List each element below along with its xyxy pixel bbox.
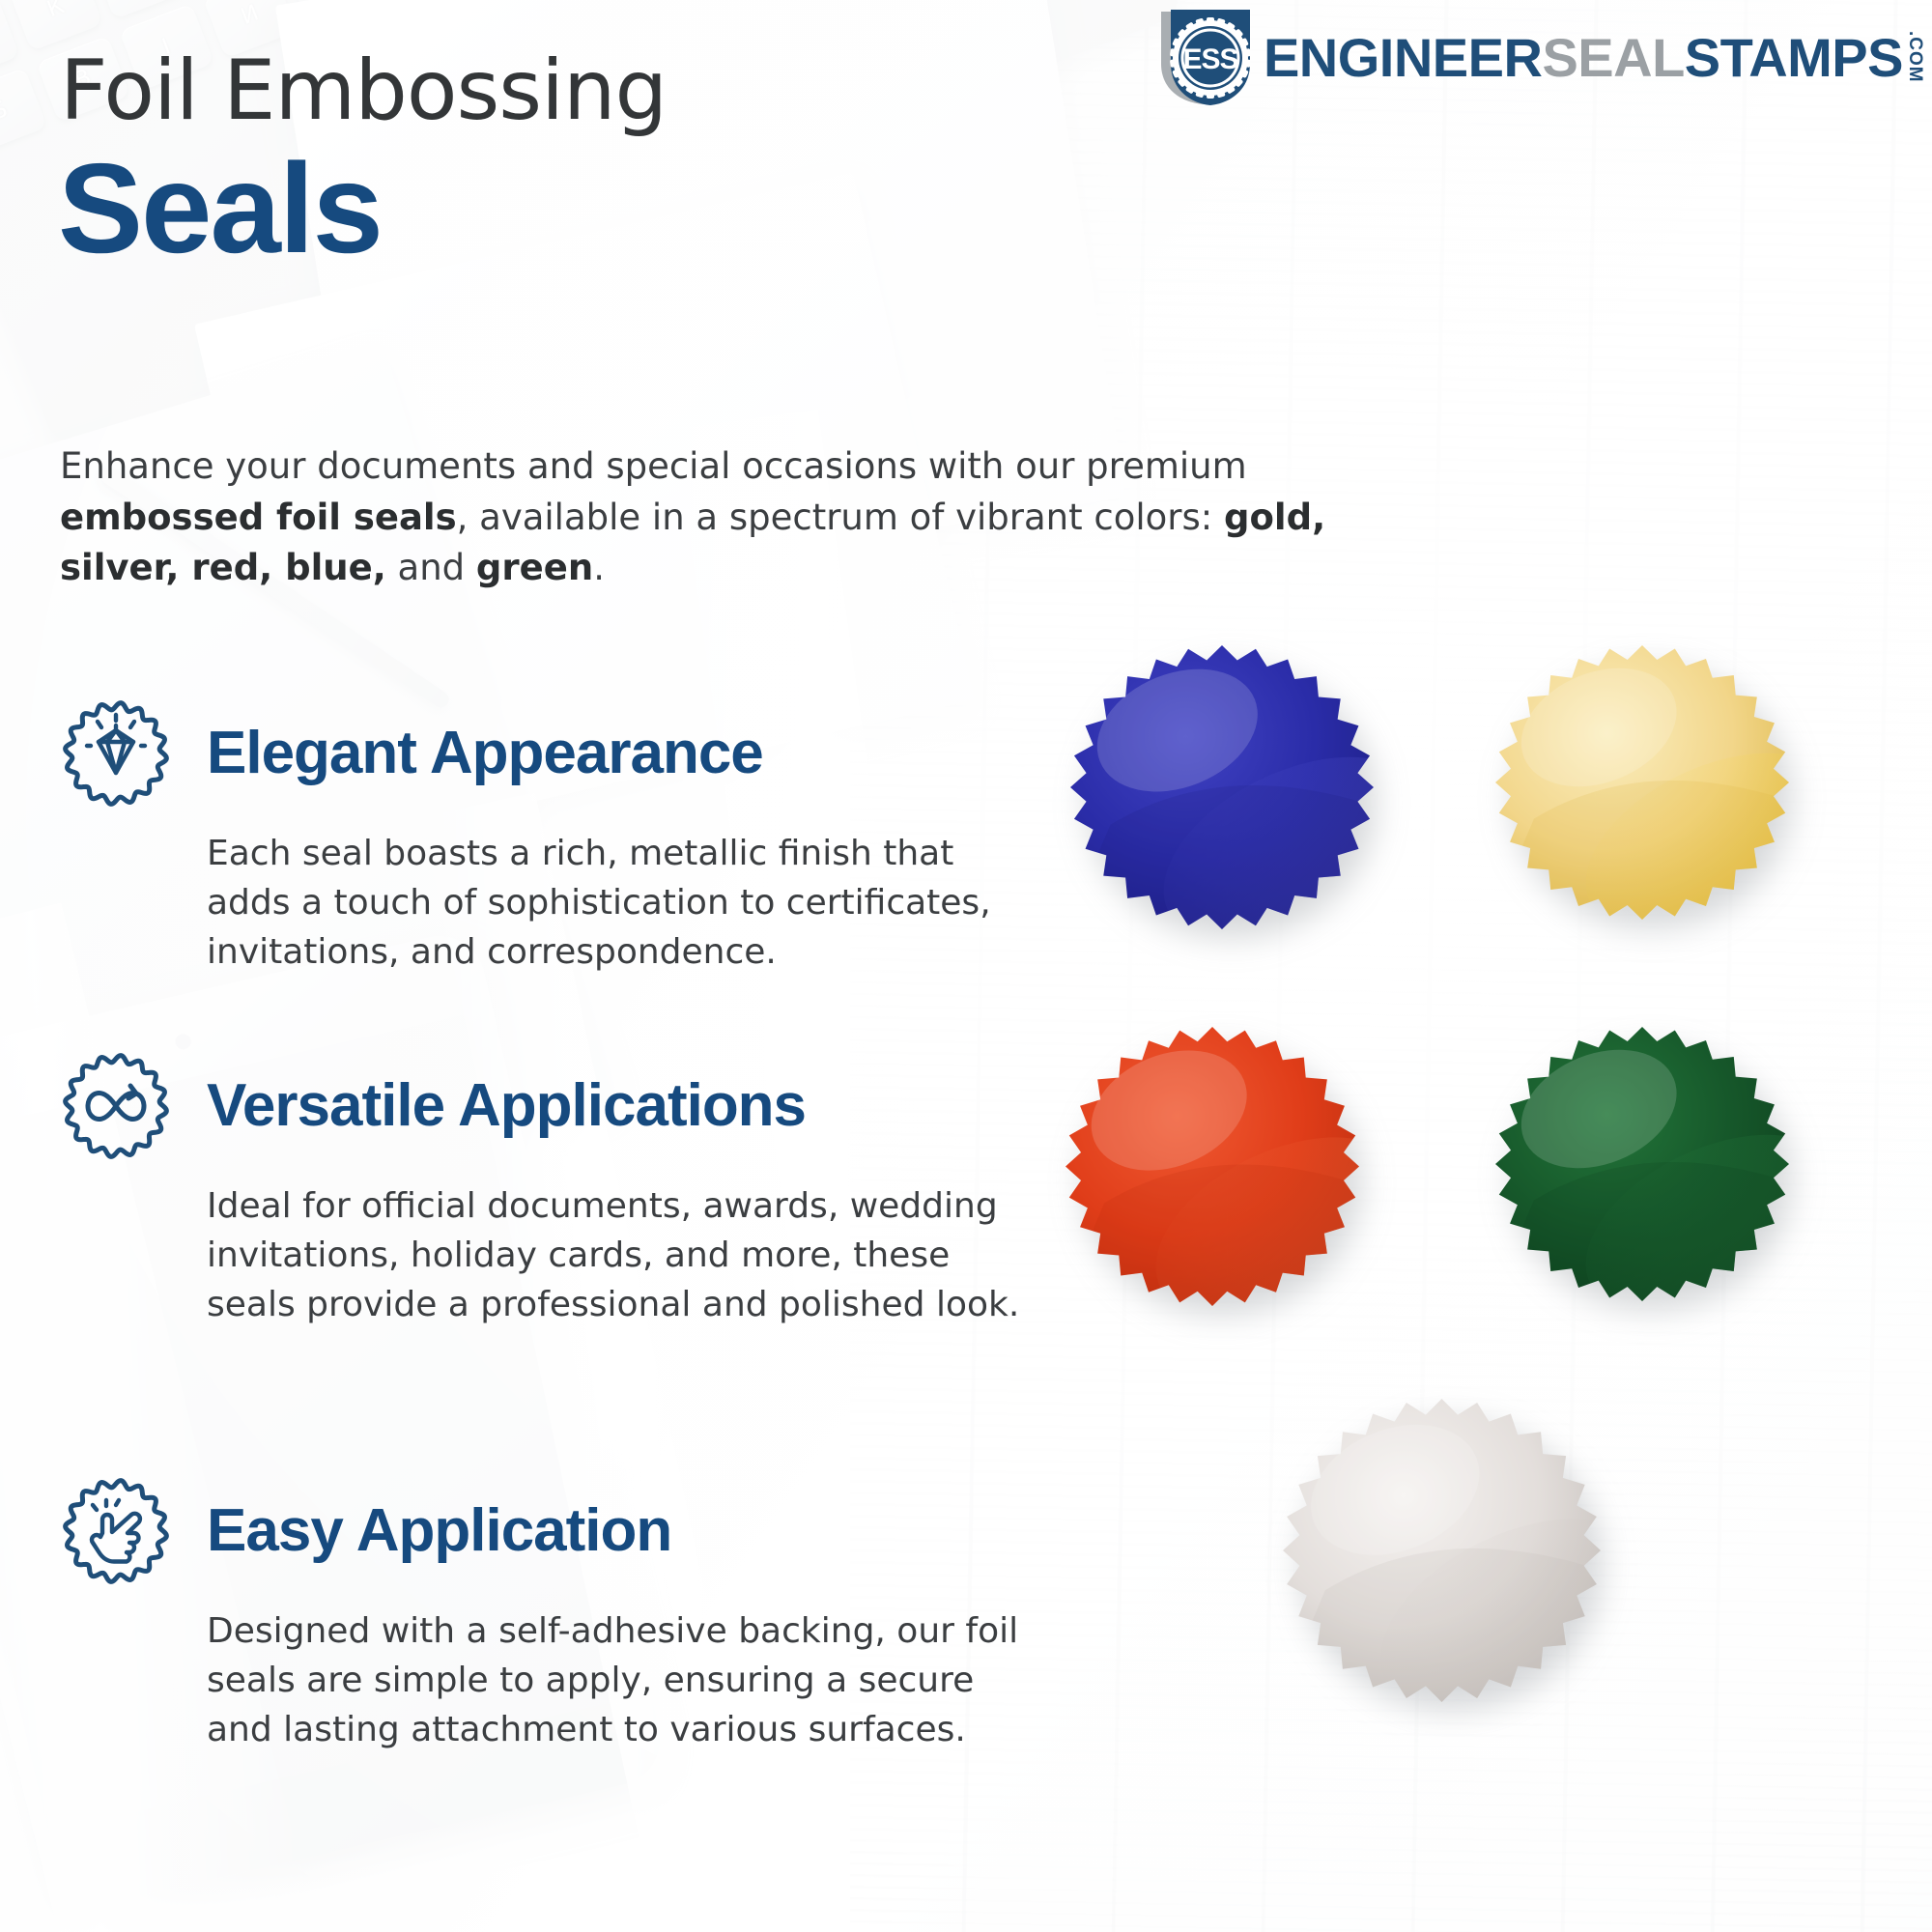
intro-bold-1: embossed foil seals — [60, 497, 457, 538]
brand-wordmark: ENGINEERSEALSTAMPS.COM — [1264, 31, 1924, 85]
intro-paragraph: Enhance your documents and special occas… — [60, 441, 1374, 594]
feature-easy-application: Easy Application Designed with a self-ad… — [58, 1473, 1034, 1754]
page-title-line1: Foil Embossing — [60, 43, 667, 139]
intro-seg-1: Enhance your documents and special occas… — [60, 445, 1247, 487]
red-foil-seal — [1058, 1019, 1367, 1314]
feature-header: Versatile Applications — [58, 1048, 1034, 1164]
feature-header: Elegant Appearance — [58, 696, 1034, 811]
feature-title: Elegant Appearance — [207, 724, 763, 783]
logo-text-stamps: STAMPS — [1685, 31, 1903, 85]
feature-body: Designed with a self-adhesive backing, o… — [207, 1606, 1034, 1754]
infographic-page: КДЩЛЗ?НРЧЫМЬБВІИЮЭЖХКДЩЛЗ?НРЧЫМЬБВІИЮЭЖХ… — [0, 0, 1932, 1932]
blue-foil-seal — [1063, 638, 1381, 937]
green-foil-seal — [1488, 1019, 1797, 1309]
intro-seg-2: , available in a spectrum of vibrant col… — [457, 497, 1224, 538]
feature-versatile-applications: Versatile Applications Ideal for officia… — [58, 1048, 1034, 1329]
intro-bold-3: green — [476, 547, 593, 588]
feature-title: Easy Application — [207, 1501, 671, 1561]
intro-seg-3: and — [386, 547, 476, 588]
feature-title: Versatile Applications — [207, 1076, 806, 1136]
logo-text-engineer: ENGINEER — [1264, 31, 1543, 85]
feature-body: Ideal for official documents, awards, we… — [207, 1181, 1034, 1329]
feature-body: Each seal boasts a rich, metallic finish… — [207, 829, 1034, 977]
logo-text-tld: .COM — [1906, 31, 1924, 83]
silver-foil-seal — [1275, 1391, 1608, 1710]
page-title-line2: Seals — [58, 135, 382, 281]
content-layer: ESS ENGINEERSEALSTAMPS.COM Foil Embossin… — [0, 0, 1932, 1932]
svg-text:ESS: ESS — [1182, 43, 1237, 75]
feature-header: Easy Application — [58, 1473, 1034, 1589]
feature-elegant-appearance: Elegant Appearance Each seal boasts a ri… — [58, 696, 1034, 977]
diamond-badge-icon — [58, 696, 174, 811]
tapping-hand-badge-icon — [58, 1473, 174, 1589]
infinity-loop-badge-icon — [58, 1048, 174, 1164]
brand-logo[interactable]: ESS ENGINEERSEALSTAMPS.COM — [1157, 8, 1924, 108]
logo-text-seal: SEAL — [1542, 31, 1684, 85]
intro-seg-4: . — [593, 547, 605, 588]
ess-gear-shield-icon: ESS — [1157, 8, 1250, 108]
gold-foil-seal — [1488, 638, 1797, 927]
